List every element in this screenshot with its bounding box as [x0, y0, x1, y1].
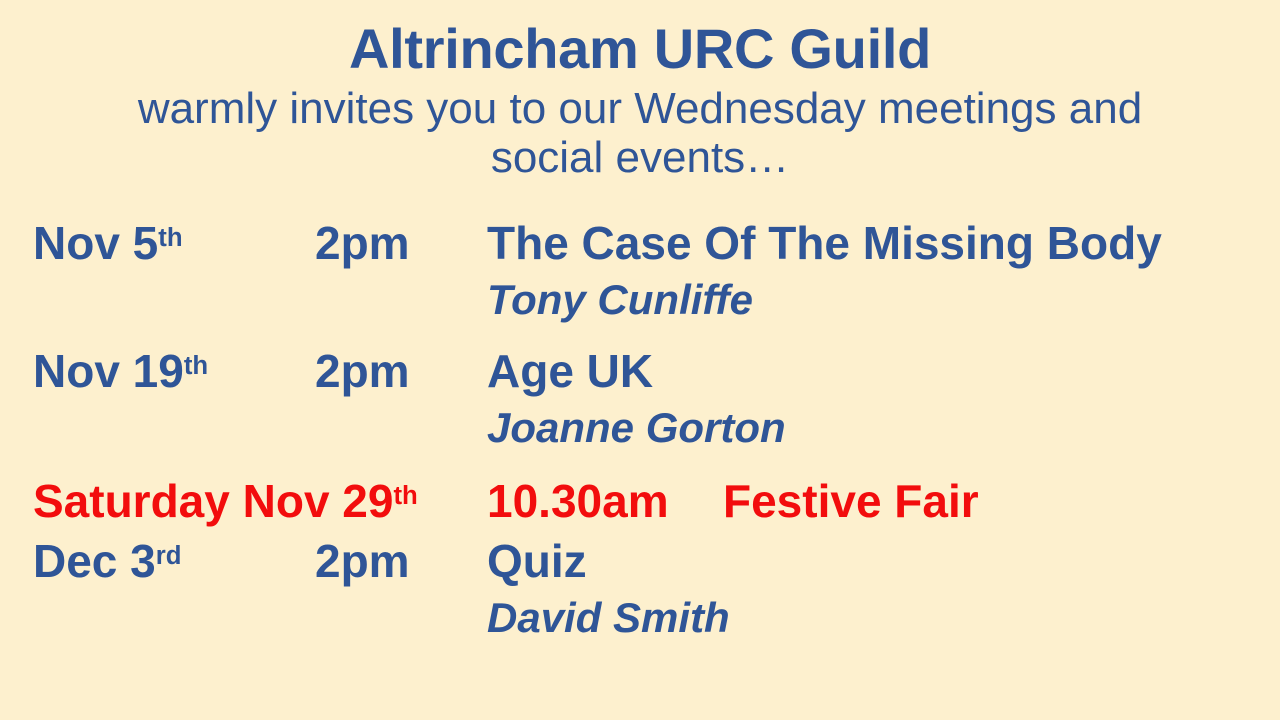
event-date: Saturday Nov 29th — [33, 470, 418, 532]
poster-subtitle: warmly invites you to our Wednesday meet… — [0, 84, 1280, 183]
page-title: Altrincham URC Guild — [0, 18, 1280, 80]
event-title: Age UK — [487, 342, 653, 400]
event-date-text: Nov 19 — [33, 345, 184, 397]
event-date: Dec 3rd — [33, 532, 182, 590]
event-time: 2pm — [315, 214, 410, 272]
event-title: Festive Fair — [723, 470, 979, 532]
event-row: Nov 5th 2pm The Case Of The Missing Body… — [0, 214, 1280, 328]
event-date-ordinal: th — [393, 482, 417, 510]
event-date: Nov 19th — [33, 342, 208, 400]
event-main-line: Saturday Nov 29th 10.30am Festive Fair — [33, 470, 1280, 532]
event-main-line: Nov 5th 2pm The Case Of The Missing Body — [33, 214, 1280, 272]
event-time: 2pm — [315, 342, 410, 400]
event-speaker: David Smith — [487, 590, 1280, 646]
event-date-ordinal: th — [158, 224, 182, 252]
event-date-ordinal: rd — [156, 542, 182, 570]
event-time: 10.30am — [487, 470, 669, 532]
event-row: Nov 19th 2pm Age UK Joanne Gorton — [0, 342, 1280, 456]
poster-header: Altrincham URC Guild warmly invites you … — [0, 18, 1280, 182]
event-time: 2pm — [315, 532, 410, 590]
event-title: Quiz — [487, 532, 587, 590]
event-schedule-list: Nov 5th 2pm The Case Of The Missing Body… — [0, 214, 1280, 646]
event-speaker: Joanne Gorton — [487, 400, 1280, 456]
event-date-ordinal: th — [184, 352, 208, 380]
event-main-line: Dec 3rd 2pm Quiz — [33, 532, 1280, 590]
event-date-text: Dec 3 — [33, 535, 156, 587]
event-date-text: Nov 5 — [33, 217, 158, 269]
event-row-highlighted: Saturday Nov 29th 10.30am Festive Fair — [0, 470, 1280, 532]
poster-canvas: Altrincham URC Guild warmly invites you … — [0, 0, 1280, 720]
event-title: The Case Of The Missing Body — [487, 214, 1162, 272]
event-date-text: Saturday Nov 29 — [33, 475, 393, 527]
event-main-line: Nov 19th 2pm Age UK — [33, 342, 1280, 400]
event-speaker: Tony Cunliffe — [487, 272, 1280, 328]
event-date: Nov 5th — [33, 214, 183, 272]
event-row: Dec 3rd 2pm Quiz David Smith — [0, 532, 1280, 646]
